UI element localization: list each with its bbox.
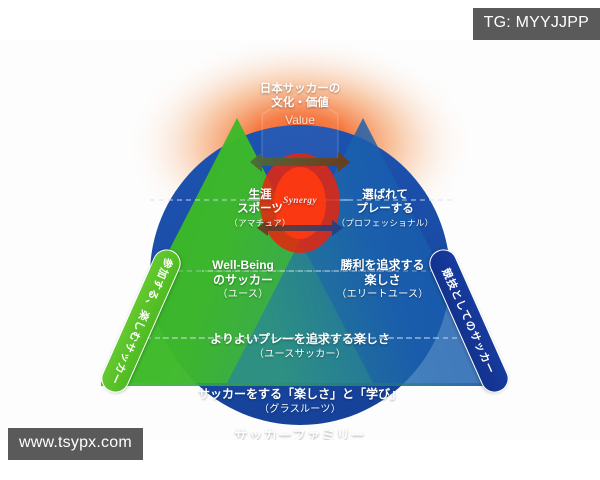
watermark-bottom-left: www.tsypx.com xyxy=(8,428,143,460)
pyramid-bottom-edge xyxy=(101,383,499,386)
pyramid-diagram-svg xyxy=(0,40,600,440)
diagram-canvas: 日本サッカーの 文化・価値 Value Synergy 生涯 スポーツ （アマチ… xyxy=(0,40,600,440)
watermark-top-right: TG: MYYJJPP xyxy=(473,8,600,40)
